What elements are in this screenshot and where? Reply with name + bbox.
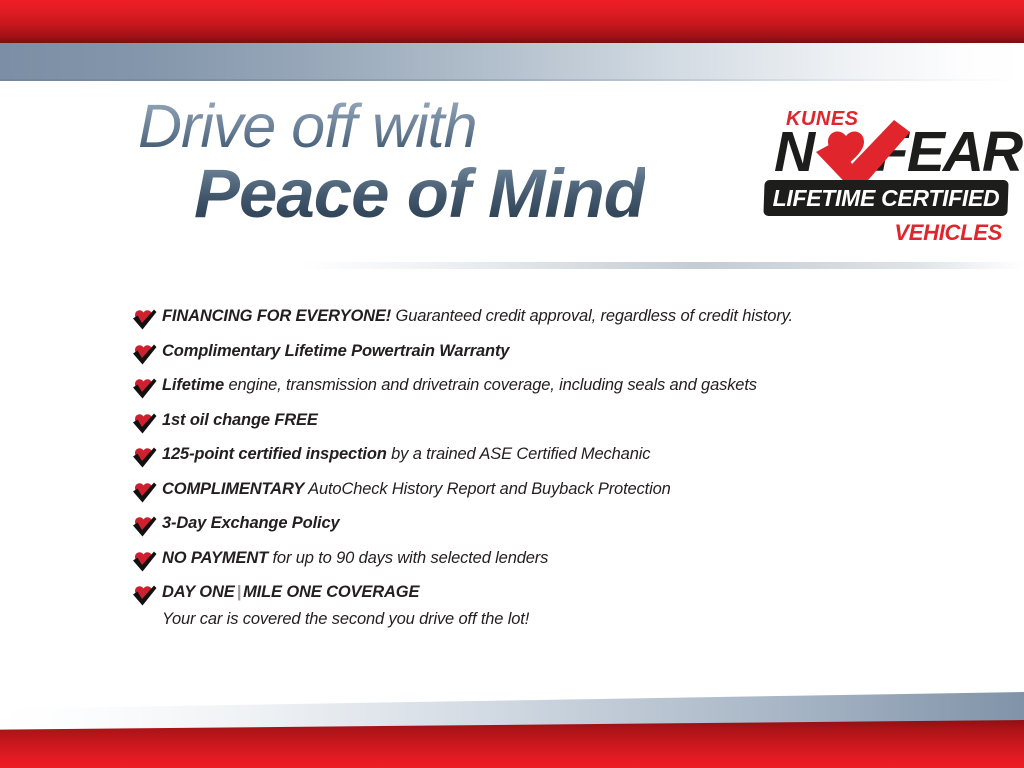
list-item-text: Lifetime engine, transmission and drivet… [162, 375, 757, 396]
list-item-bold: COMPLIMENTARY [162, 480, 304, 498]
heart-check-icon [130, 480, 158, 504]
logo-vehicles-label: VEHICLES [894, 220, 1002, 246]
heart-check-icon [130, 376, 158, 400]
list-item-text: DAY ONE|MILE ONE COVERAGE [162, 582, 419, 603]
headline-line-1: Drive off with [138, 96, 645, 159]
list-item-bold: 1st oil change FREE [162, 411, 318, 429]
list-item-bold: DAY ONE [162, 583, 235, 601]
heart-check-icon [130, 583, 158, 607]
heart-check-icon [130, 514, 158, 538]
list-item: Complimentary Lifetime Powertrain Warran… [130, 341, 930, 367]
kunes-no-fear-logo: KUNES N FEAR LIFETIME CERTIFIED VEHICLES [764, 108, 1008, 246]
top-red-band [0, 0, 1024, 43]
list-item-bold: Lifetime [162, 376, 224, 394]
list-item: 3-Day Exchange Policy [130, 513, 930, 539]
list-item: DAY ONE|MILE ONE COVERAGE Your car is co… [130, 582, 930, 629]
heart-check-icon [130, 445, 158, 469]
list-item-text: 3-Day Exchange Policy [162, 513, 340, 534]
list-item-bold: FINANCING FOR EVERYONE! [162, 307, 391, 325]
headline-divider [300, 262, 1024, 269]
list-item-separator: | [235, 583, 243, 601]
headline: Drive off with Peace of Mind [138, 96, 645, 228]
list-item: 125-point certified inspection by a trai… [130, 444, 930, 470]
list-item-text: Complimentary Lifetime Powertrain Warran… [162, 341, 509, 362]
list-item-subtext: Your car is covered the second you drive… [130, 610, 930, 629]
heart-check-icon [130, 549, 158, 573]
top-banner [0, 0, 1024, 82]
top-gray-band [0, 43, 1024, 81]
list-item: Lifetime engine, transmission and drivet… [130, 375, 930, 401]
list-item-rest: Guaranteed credit approval, regardless o… [391, 307, 793, 325]
list-item-text: 125-point certified inspection by a trai… [162, 444, 650, 465]
list-item-text: 1st oil change FREE [162, 410, 318, 431]
list-item-bold-2: MILE ONE COVERAGE [243, 583, 419, 601]
promo-poster: Drive off with Peace of Mind KUNES N FEA… [0, 0, 1024, 768]
logo-nofear-wordmark: N FEAR [770, 124, 1008, 186]
benefits-list: FINANCING FOR EVERYONE! Guaranteed credi… [130, 306, 930, 629]
list-item-bold: 3-Day Exchange Policy [162, 514, 340, 532]
list-item-bold: Complimentary Lifetime Powertrain Warran… [162, 342, 509, 360]
list-item-rest: by a trained ASE Certified Mechanic [387, 445, 651, 463]
bottom-banner [0, 688, 1024, 768]
list-item-rest: for up to 90 days with selected lenders [268, 549, 548, 567]
list-item-text: FINANCING FOR EVERYONE! Guaranteed credi… [162, 306, 793, 327]
heart-check-icon [130, 411, 158, 435]
headline-line-2: Peace of Mind [138, 159, 645, 228]
list-item: 1st oil change FREE [130, 410, 930, 436]
list-item-bold: NO PAYMENT [162, 549, 268, 567]
list-item-text: COMPLIMENTARY AutoCheck History Report a… [162, 479, 671, 500]
heart-check-icon [130, 307, 158, 331]
list-item-bold: 125-point certified inspection [162, 445, 387, 463]
list-item: FINANCING FOR EVERYONE! Guaranteed credi… [130, 306, 930, 332]
list-item-rest: engine, transmission and drivetrain cove… [224, 376, 757, 394]
list-item: COMPLIMENTARY AutoCheck History Report a… [130, 479, 930, 505]
list-item-rest: AutoCheck History Report and Buyback Pro… [304, 480, 670, 498]
list-item: NO PAYMENT for up to 90 days with select… [130, 548, 930, 574]
list-item-text: NO PAYMENT for up to 90 days with select… [162, 548, 548, 569]
heart-check-icon [130, 342, 158, 366]
logo-bar-label: LIFETIME CERTIFIED [764, 180, 1008, 216]
